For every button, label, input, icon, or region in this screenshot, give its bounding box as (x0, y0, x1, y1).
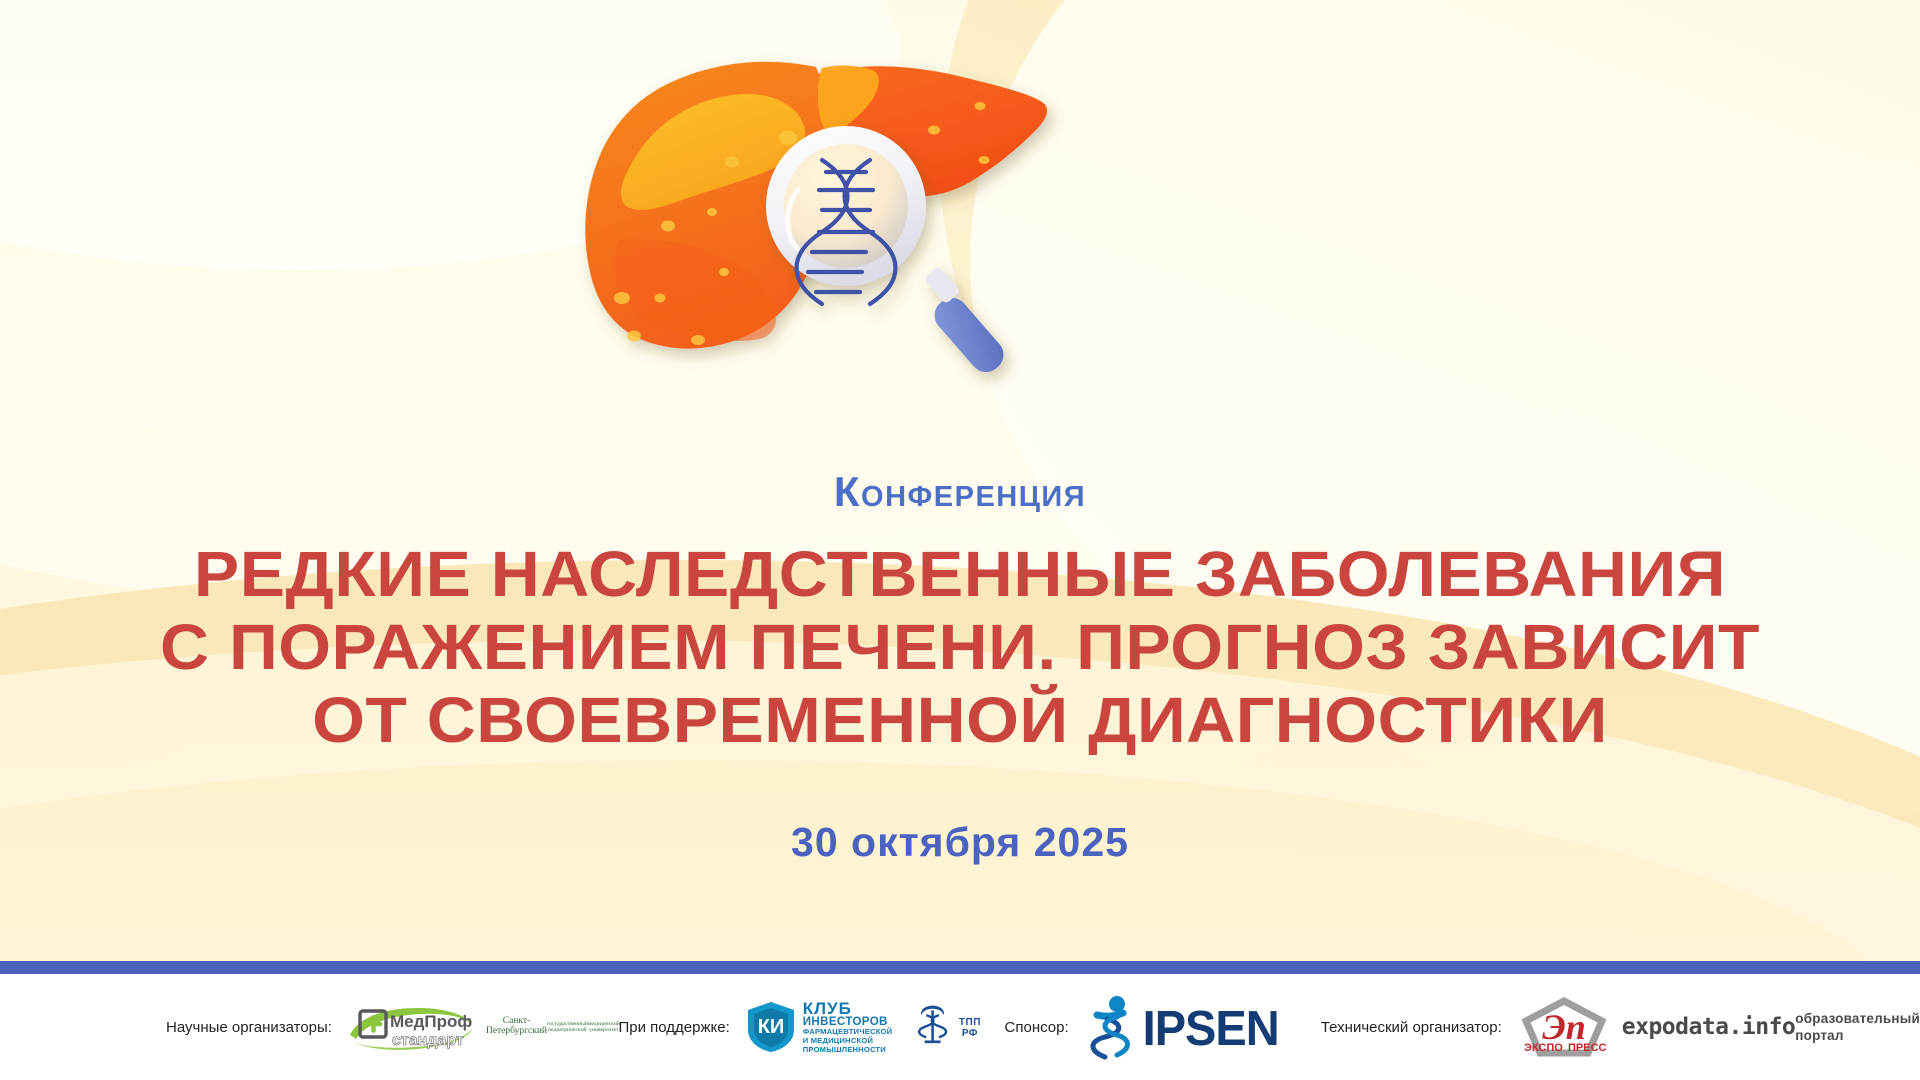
expodata-logo[interactable]: expodata.info образовательный портал (1622, 1010, 1920, 1043)
expodata-tagline: образовательный портал (1795, 1011, 1920, 1043)
sponsor-group: Спонсор: IPSEN (1005, 993, 1279, 1061)
sponsor-label: Спонсор: (1005, 1019, 1069, 1036)
support-group: При поддержке: КИ КЛУБ ИНВЕСТОРОВ ФАРМАЦ… (618, 996, 986, 1058)
klub-line-1: КЛУБ (803, 1000, 893, 1017)
spbgpmu-logo[interactable]: Санкт-Петербургский государственный педи… (486, 1007, 582, 1047)
expodata-wordmark: expodata.info (1622, 1016, 1796, 1039)
medprof-wordmark-2: стандарт (392, 1032, 464, 1049)
technical-organizer-label: Технический организатор: (1321, 1019, 1502, 1036)
liver-illustration (560, 40, 1080, 400)
magnifier-handle (928, 291, 1010, 378)
tpp-caduceus-icon (912, 996, 953, 1058)
klub-wordmark: КЛУБ ИНВЕСТОРОВ ФАРМАЦЕВТИЧЕСКОЙ И МЕДИЦ… (803, 1000, 893, 1055)
eyebrow-label: Конференция (0, 470, 1920, 514)
footer-bar: Научные организаторы: МедПроф стандарт (0, 974, 1920, 1080)
title-line-3: ОТ СВОЕВРЕМЕННОЙ ДИАГНОСТИКИ (0, 684, 1920, 757)
medprof-standard-logo[interactable]: МедПроф стандарт (346, 1001, 474, 1053)
expopress-logo[interactable]: Эп ЭКСПО ПРЕСС (1518, 997, 1610, 1057)
event-date: 30 октября 2025 (0, 819, 1920, 866)
technical-organizer-group: Технический организатор: Эп ЭКСПО ПРЕСС … (1321, 997, 1920, 1057)
scientific-organizers-label: Научные организаторы: (166, 1019, 332, 1036)
title-line-2: С ПОРАЖЕНИЕМ ПЕЧЕНИ. ПРОГНОЗ ЗАВИСИТ (0, 611, 1920, 684)
scientific-organizers-group: Научные организаторы: МедПроф стандарт (166, 1001, 582, 1053)
spbgpmu-name-line-1: Санкт-Петербургский (486, 1017, 547, 1037)
expopress-word-left: ЭКСПО (1524, 1042, 1563, 1054)
expopress-word-right: ПРЕСС (1568, 1042, 1607, 1054)
medprof-wordmark-1: МедПроф (390, 1012, 472, 1031)
ipsen-logo[interactable]: IPSEN (1083, 993, 1279, 1061)
klub-investorov-logo[interactable]: КИ КЛУБ ИНВЕСТОРОВ ФАРМАЦЕВТИЧЕСКОЙ И МЕ… (744, 1000, 893, 1055)
headline-block: Конференция РЕДКИЕ НАСЛЕДСТВЕННЫЕ ЗАБОЛЕ… (0, 470, 1920, 866)
klub-monogram: КИ (757, 1016, 784, 1038)
title-line-1: РЕДКИЕ НАСЛЕДСТВЕННЫЕ ЗАБОЛЕВАНИЯ (0, 538, 1920, 611)
footer-separator (0, 961, 1920, 974)
expopress-monogram: Эп (1542, 1007, 1585, 1047)
klub-line-5: ПРОМЫШЛЕННОСТИ (803, 1046, 893, 1055)
tpp-rf-logo[interactable]: ТПП РФ (912, 996, 986, 1058)
ipsen-wordmark: IPSEN (1143, 1002, 1279, 1051)
conference-banner: Конференция РЕДКИЕ НАСЛЕДСТВЕННЫЕ ЗАБОЛЕ… (0, 0, 1920, 1080)
spbgpmu-name-line-3: медицинский университет (588, 1021, 620, 1034)
klub-emblem: КИ (744, 1000, 798, 1054)
support-label: При поддержке: (618, 1019, 729, 1036)
tpp-caption: ТПП РФ (954, 1017, 987, 1039)
ipsen-figure-icon (1083, 993, 1139, 1061)
expopress-emblem: Эп ЭКСПО ПРЕСС (1518, 997, 1610, 1057)
page-title: РЕДКИЕ НАСЛЕДСТВЕННЫЕ ЗАБОЛЕВАНИЯ С ПОРА… (0, 538, 1920, 757)
spbgpmu-name-line-2: государственный педиатрический (547, 1021, 588, 1034)
